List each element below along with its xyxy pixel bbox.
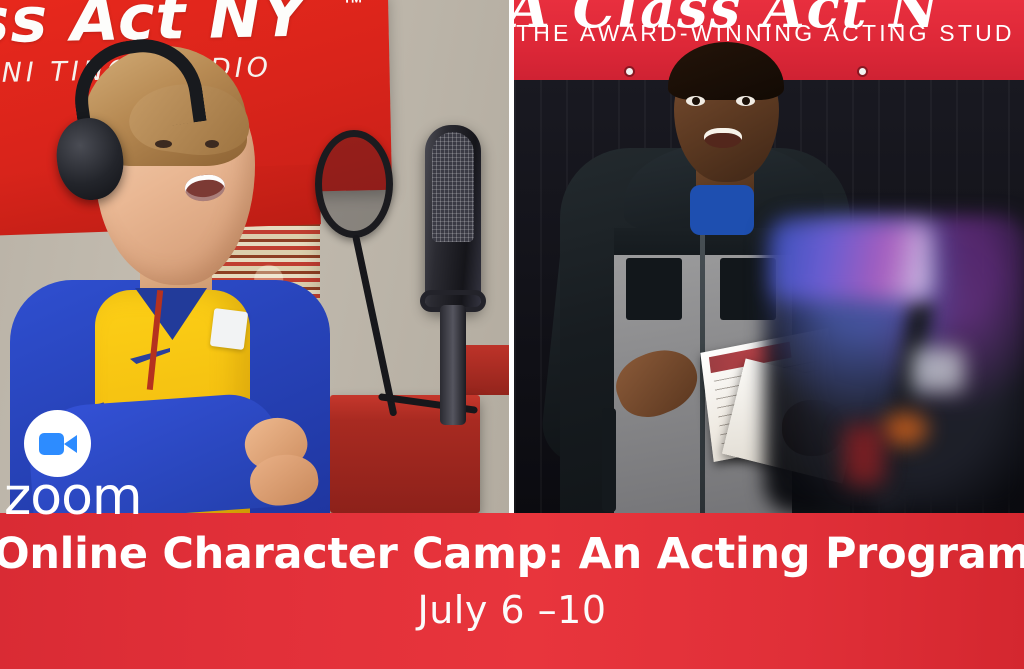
photo-strip: ss Act NY TM INNI TING STUDIO THE xyxy=(0,0,1024,513)
camera-monitor-screen-blurred xyxy=(772,222,932,300)
hoodie-pocket-left xyxy=(626,258,682,320)
camera-red-accent-blurred xyxy=(844,425,884,485)
microphone-stand xyxy=(440,305,466,425)
program-dates: July 6 –10 xyxy=(417,587,606,633)
boy-eye-left xyxy=(686,96,705,106)
pop-filter-ring xyxy=(315,130,393,238)
hoodie-side-stripe xyxy=(602,408,616,512)
video-camera-body xyxy=(39,433,64,455)
camera-highlight-blurred xyxy=(912,348,964,392)
promo-card: ss Act NY TM INNI TING STUDIO THE xyxy=(0,0,1024,669)
boy-eye-left xyxy=(155,140,172,148)
boy-eye-right xyxy=(205,140,219,148)
microphone-grille xyxy=(432,132,474,242)
banner-grommet-left xyxy=(626,68,633,75)
jersey-badge xyxy=(210,308,248,350)
banner-subtitle-text: THE AWARD-WINNING ACTING STUD xyxy=(516,20,1015,47)
trademark-symbol: TM xyxy=(343,0,362,6)
program-title: Online Character Camp: An Acting Program xyxy=(0,529,1024,579)
zoom-logo: zoom xyxy=(0,405,130,515)
camera-orange-light-blurred xyxy=(882,412,928,446)
zoom-wordmark: zoom xyxy=(4,471,142,523)
boy-mouth-speaking xyxy=(704,128,742,148)
banner-grommet-right xyxy=(859,68,866,75)
video-camera-icon xyxy=(39,433,77,455)
photo-right-boy-performing: A Class Act N THE AWARD-WINNING ACTING S… xyxy=(514,0,1024,513)
boy-eye-right xyxy=(736,96,755,106)
blue-undershirt xyxy=(690,185,754,235)
video-camera-lens xyxy=(64,435,77,453)
caption-band: Online Character Camp: An Acting Program… xyxy=(0,513,1024,669)
